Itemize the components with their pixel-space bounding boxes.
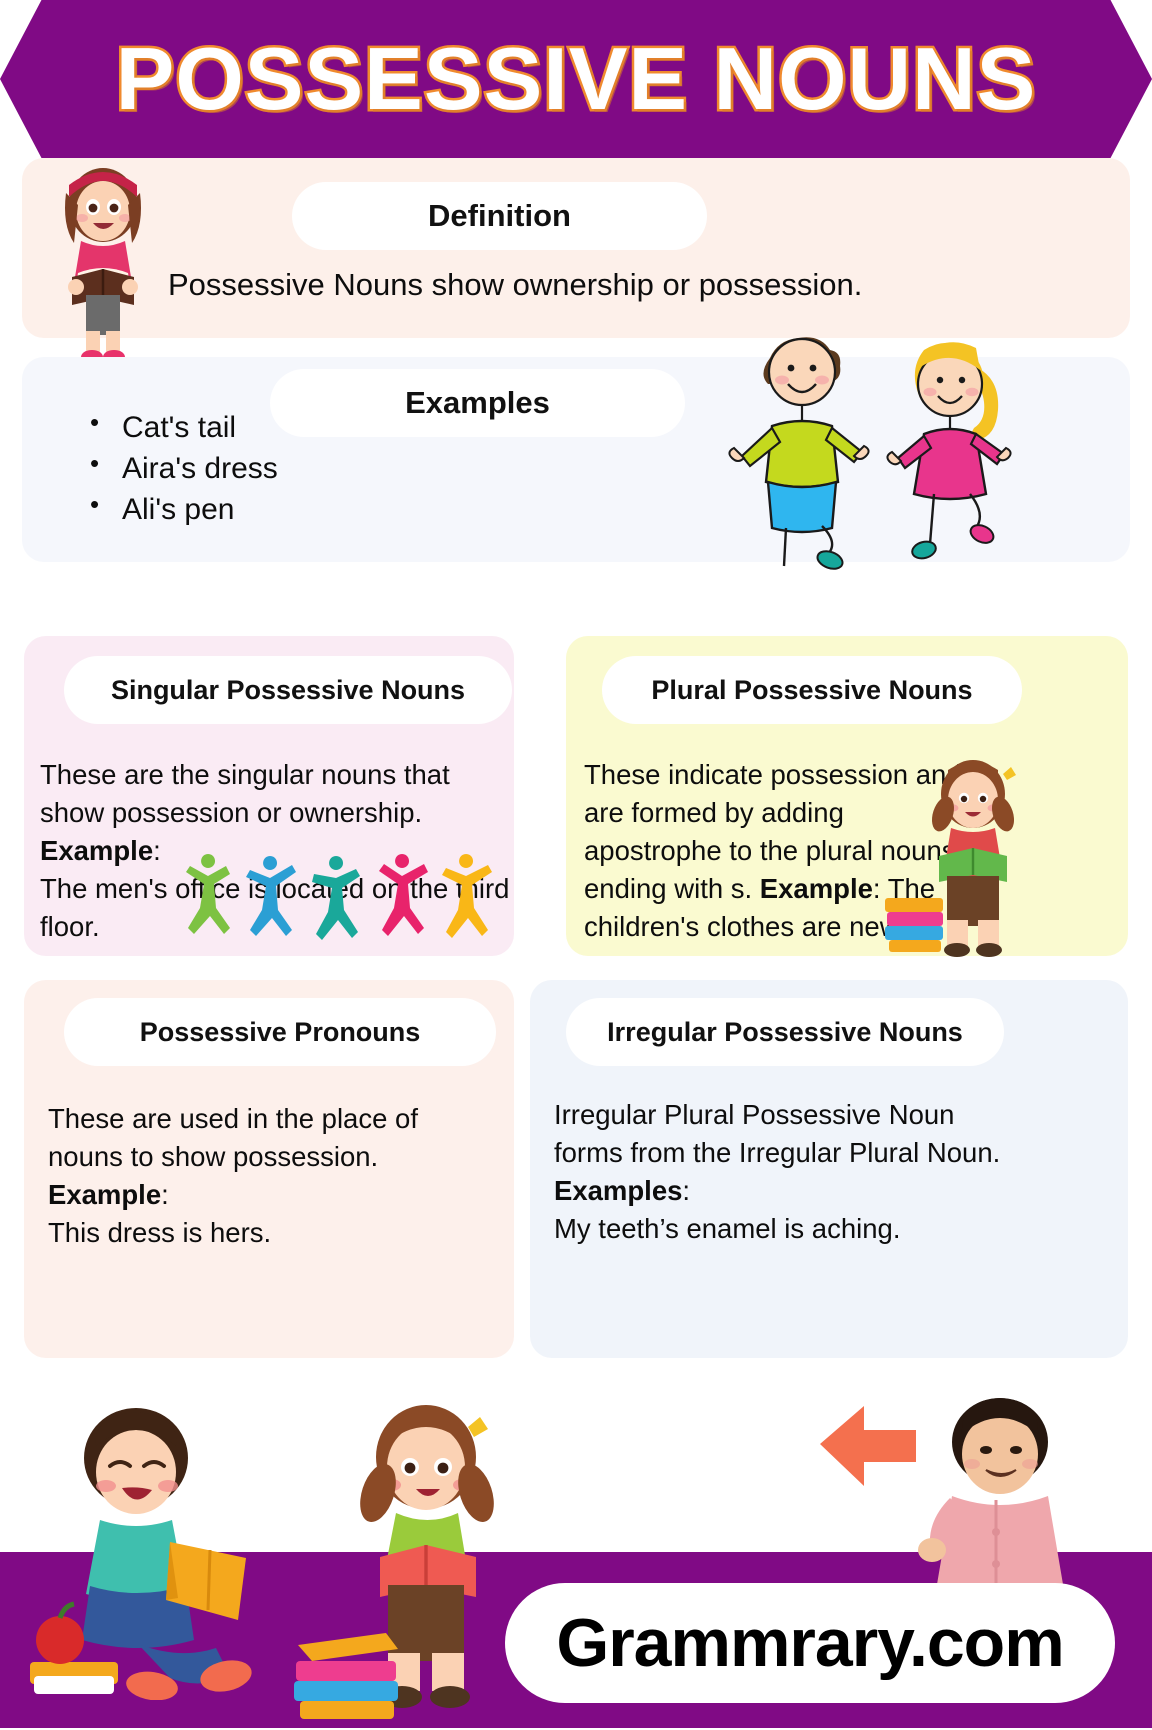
examples-list: Cat's tail Aira's dress Ali's pen: [82, 407, 278, 530]
site-logo-pill[interactable]: Grammrary.com: [505, 1583, 1115, 1703]
colorful-dancing-people-illustration: [180, 852, 510, 957]
pronouns-example-text: This dress is hers.: [48, 1217, 271, 1248]
irregular-example-text: My teeth’s enamel is aching.: [554, 1213, 900, 1244]
irregular-body-text: Irregular Plural Possessive Noun forms f…: [554, 1096, 1024, 1248]
irregular-example-label: Examples: [554, 1175, 682, 1206]
plural-heading-pill: Plural Possessive Nouns: [602, 656, 1022, 724]
boy-and-girl-jumping-illustration: [712, 322, 1032, 572]
definition-card: Definition Possessive Nouns show ownersh…: [22, 158, 1130, 338]
girl-reading-book-illustration: [48, 155, 158, 365]
possessive-pronouns-card: Possessive Pronouns These are used in th…: [24, 980, 514, 1358]
singular-description: These are the singular nouns that show p…: [40, 759, 450, 828]
irregular-description: Irregular Plural Possessive Noun forms f…: [554, 1099, 1000, 1168]
list-item: Cat's tail: [118, 407, 278, 448]
examples-heading-pill: Examples: [270, 369, 685, 437]
plural-example-label: Example: [760, 873, 873, 904]
colon: :: [161, 1179, 169, 1210]
page-title: POSSESSIVE NOUNS: [0, 28, 1152, 130]
list-item: Ali's pen: [118, 489, 278, 530]
singular-example-label: Example: [40, 835, 153, 866]
list-item: Aira's dress: [118, 448, 278, 489]
stack-of-books-illustration: [290, 1615, 405, 1725]
boy-with-orange-arrow-illustration: [820, 1392, 1080, 1602]
colon: :: [153, 835, 161, 866]
pronouns-description: These are used in the place of nouns to …: [48, 1103, 418, 1172]
singular-heading-pill: Singular Possessive Nouns: [64, 656, 512, 724]
definition-body-text: Possessive Nouns show ownership or posse…: [168, 264, 1098, 307]
pronouns-body-text: These are used in the place of nouns to …: [48, 1100, 496, 1252]
irregular-possessive-nouns-card: Irregular Possessive Nouns Irregular Plu…: [530, 980, 1128, 1358]
irregular-heading-pill: Irregular Possessive Nouns: [566, 998, 1004, 1066]
girl-with-books-illustration: [885, 752, 1053, 958]
pronouns-example-label: Example: [48, 1179, 161, 1210]
site-logo-text: Grammrary.com: [556, 1604, 1063, 1682]
boy-sitting-reading-illustration: [30, 1400, 260, 1700]
header-banner: POSSESSIVE NOUNS: [0, 0, 1152, 158]
pronouns-heading-pill: Possessive Pronouns: [64, 998, 496, 1066]
colon: :: [682, 1175, 690, 1206]
definition-heading-pill: Definition: [292, 182, 707, 250]
